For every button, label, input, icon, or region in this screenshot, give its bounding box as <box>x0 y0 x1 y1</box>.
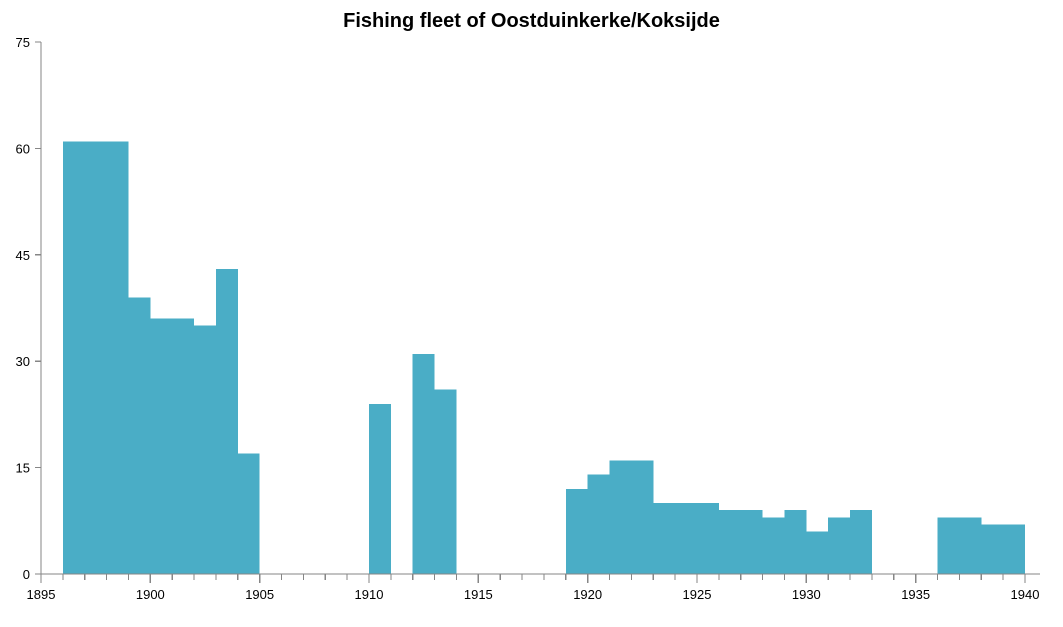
bar <box>719 510 763 574</box>
bar <box>107 141 129 574</box>
bar <box>216 269 238 574</box>
bar <box>610 461 654 574</box>
bar <box>806 531 828 574</box>
bar <box>566 489 588 574</box>
y-tick-label: 75 <box>16 35 30 50</box>
x-tick-label: 1915 <box>464 587 493 602</box>
bars-group <box>63 141 1025 574</box>
chart-container: Fishing fleet of Oostduinkerke/Koksijde … <box>0 0 1063 627</box>
x-tick-label: 1940 <box>1011 587 1040 602</box>
bar <box>763 517 785 574</box>
y-tick-label: 15 <box>16 461 30 476</box>
x-tick-label: 1895 <box>27 587 56 602</box>
y-tick-label: 0 <box>23 567 30 582</box>
y-tick-label: 60 <box>16 141 30 156</box>
x-tick-label: 1905 <box>245 587 274 602</box>
bar <box>828 517 850 574</box>
x-tick-label: 1920 <box>573 587 602 602</box>
y-axis-ticks: 01530456075 <box>16 35 41 582</box>
x-tick-label: 1925 <box>683 587 712 602</box>
bar <box>784 510 806 574</box>
y-tick-label: 30 <box>16 354 30 369</box>
bar <box>981 524 1025 574</box>
bar <box>128 297 150 574</box>
bar <box>653 503 719 574</box>
bar <box>435 390 457 574</box>
chart-plot-area: 1895190019051910191519201925193019351940… <box>0 0 1063 627</box>
x-tick-label: 1935 <box>901 587 930 602</box>
x-tick-label: 1910 <box>355 587 384 602</box>
x-tick-label: 1900 <box>136 587 165 602</box>
bar <box>588 475 610 574</box>
bar <box>238 453 260 574</box>
bar <box>85 148 107 574</box>
x-axis-ticks: 1895190019051910191519201925193019351940 <box>27 574 1040 602</box>
bar <box>938 517 982 574</box>
bar <box>413 354 435 574</box>
bar <box>150 319 194 574</box>
bar <box>850 510 872 574</box>
x-tick-label: 1930 <box>792 587 821 602</box>
bar <box>194 326 216 574</box>
y-tick-label: 45 <box>16 248 30 263</box>
bar <box>369 404 391 574</box>
